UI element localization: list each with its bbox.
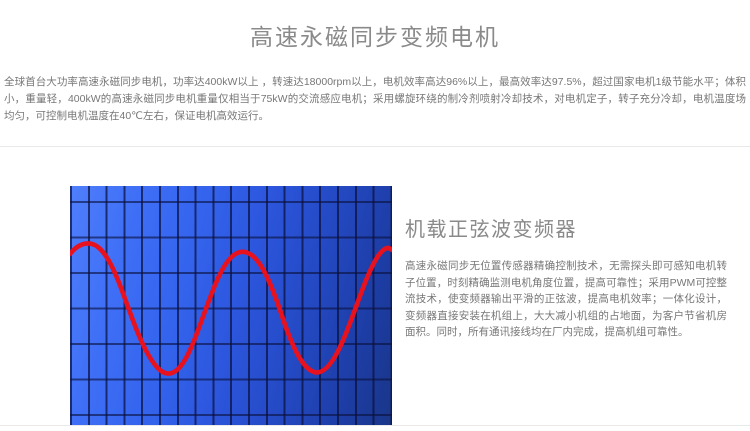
- feature-body: 高速永磁同步无位置传感器精确控制技术，无需探头即可感知电机转子位置，时刻精确监测…: [405, 242, 727, 341]
- sine-wave-chart: [70, 186, 392, 426]
- sine-wave-path: [70, 186, 392, 426]
- feature-title: 机载正弦波变频器: [405, 218, 727, 242]
- intro-paragraph: 全球首台大功率高速永磁同步电机，功率达400kW以上 ，转速达18000rpm以…: [0, 49, 750, 125]
- feature-text-block: 机载正弦波变频器 高速永磁同步无位置传感器精确控制技术，无需探头即可感知电机转子…: [405, 218, 727, 341]
- divider-bottom: [0, 425, 750, 426]
- page-title: 高速永磁同步变频电机: [0, 0, 750, 49]
- feature-section: 机载正弦波变频器 高速永磁同步无位置传感器精确控制技术，无需探头即可感知电机转子…: [0, 170, 750, 415]
- divider-top: [0, 146, 750, 147]
